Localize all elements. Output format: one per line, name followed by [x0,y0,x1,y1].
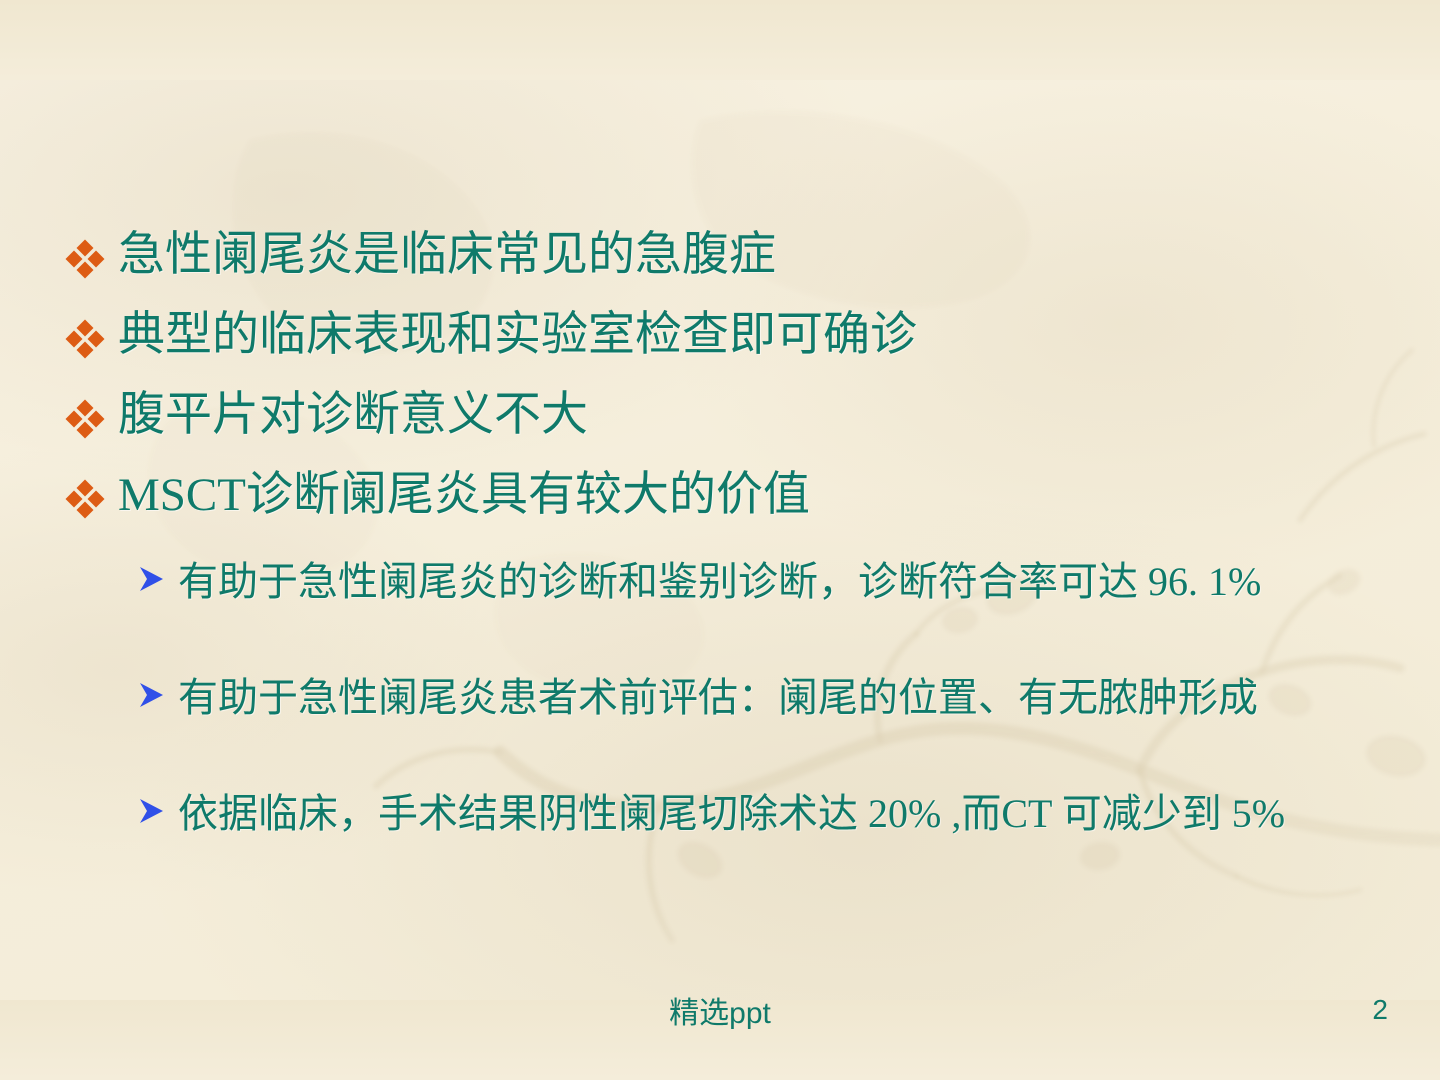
sub-bullet-item: 有助于急性阑尾炎的诊断和鉴别诊断，诊断符合率可达 96. 1% [136,556,1358,609]
diamond-cluster-icon [68,478,118,525]
diamond-cluster-icon [68,238,118,285]
arrow-head-icon [136,680,178,710]
arrow-head-icon [136,564,178,594]
slide: 急性阑尾炎是临床常见的急腹症 典型的临床表现和实验室检查即可确诊 腹平片对诊断意… [0,0,1440,1080]
sub-bullet-text: 依据临床，手术结果阴性阑尾切除术达 20% ,而CT 可减少到 5% [178,788,1358,841]
sub-bullet-text: 有助于急性阑尾炎的诊断和鉴别诊断，诊断符合率可达 96. 1% [178,556,1358,609]
footer-note: 精选ppt [0,988,1440,1032]
sub-bullet-item: 依据临床，手术结果阴性阑尾切除术达 20% ,而CT 可减少到 5% [136,788,1358,841]
diamond-cluster-icon [68,398,118,445]
bullet-item: MSCT诊断阑尾炎具有较大的价值 [68,472,810,519]
bullet-text: 腹平片对诊断意义不大 [118,392,588,439]
bullet-item: 急性阑尾炎是临床常见的急腹症 [68,232,776,279]
slide-number: 2 [1372,994,1388,1026]
arrow-head-icon [136,796,178,826]
sub-bullet-text: 有助于急性阑尾炎患者术前评估：阑尾的位置、有无脓肿形成 [178,672,1358,725]
slide-content-body: 急性阑尾炎是临床常见的急腹症 典型的临床表现和实验室检查即可确诊 腹平片对诊断意… [0,0,1440,1080]
diamond-cluster-icon [68,318,118,365]
bullet-text: 典型的临床表现和实验室检查即可确诊 [118,312,917,359]
bullet-text: MSCT诊断阑尾炎具有较大的价值 [118,472,810,519]
bullet-text: 急性阑尾炎是临床常见的急腹症 [118,232,776,279]
bullet-item: 典型的临床表现和实验室检查即可确诊 [68,312,917,359]
bullet-item: 腹平片对诊断意义不大 [68,392,588,439]
sub-bullet-item: 有助于急性阑尾炎患者术前评估：阑尾的位置、有无脓肿形成 [136,672,1358,725]
